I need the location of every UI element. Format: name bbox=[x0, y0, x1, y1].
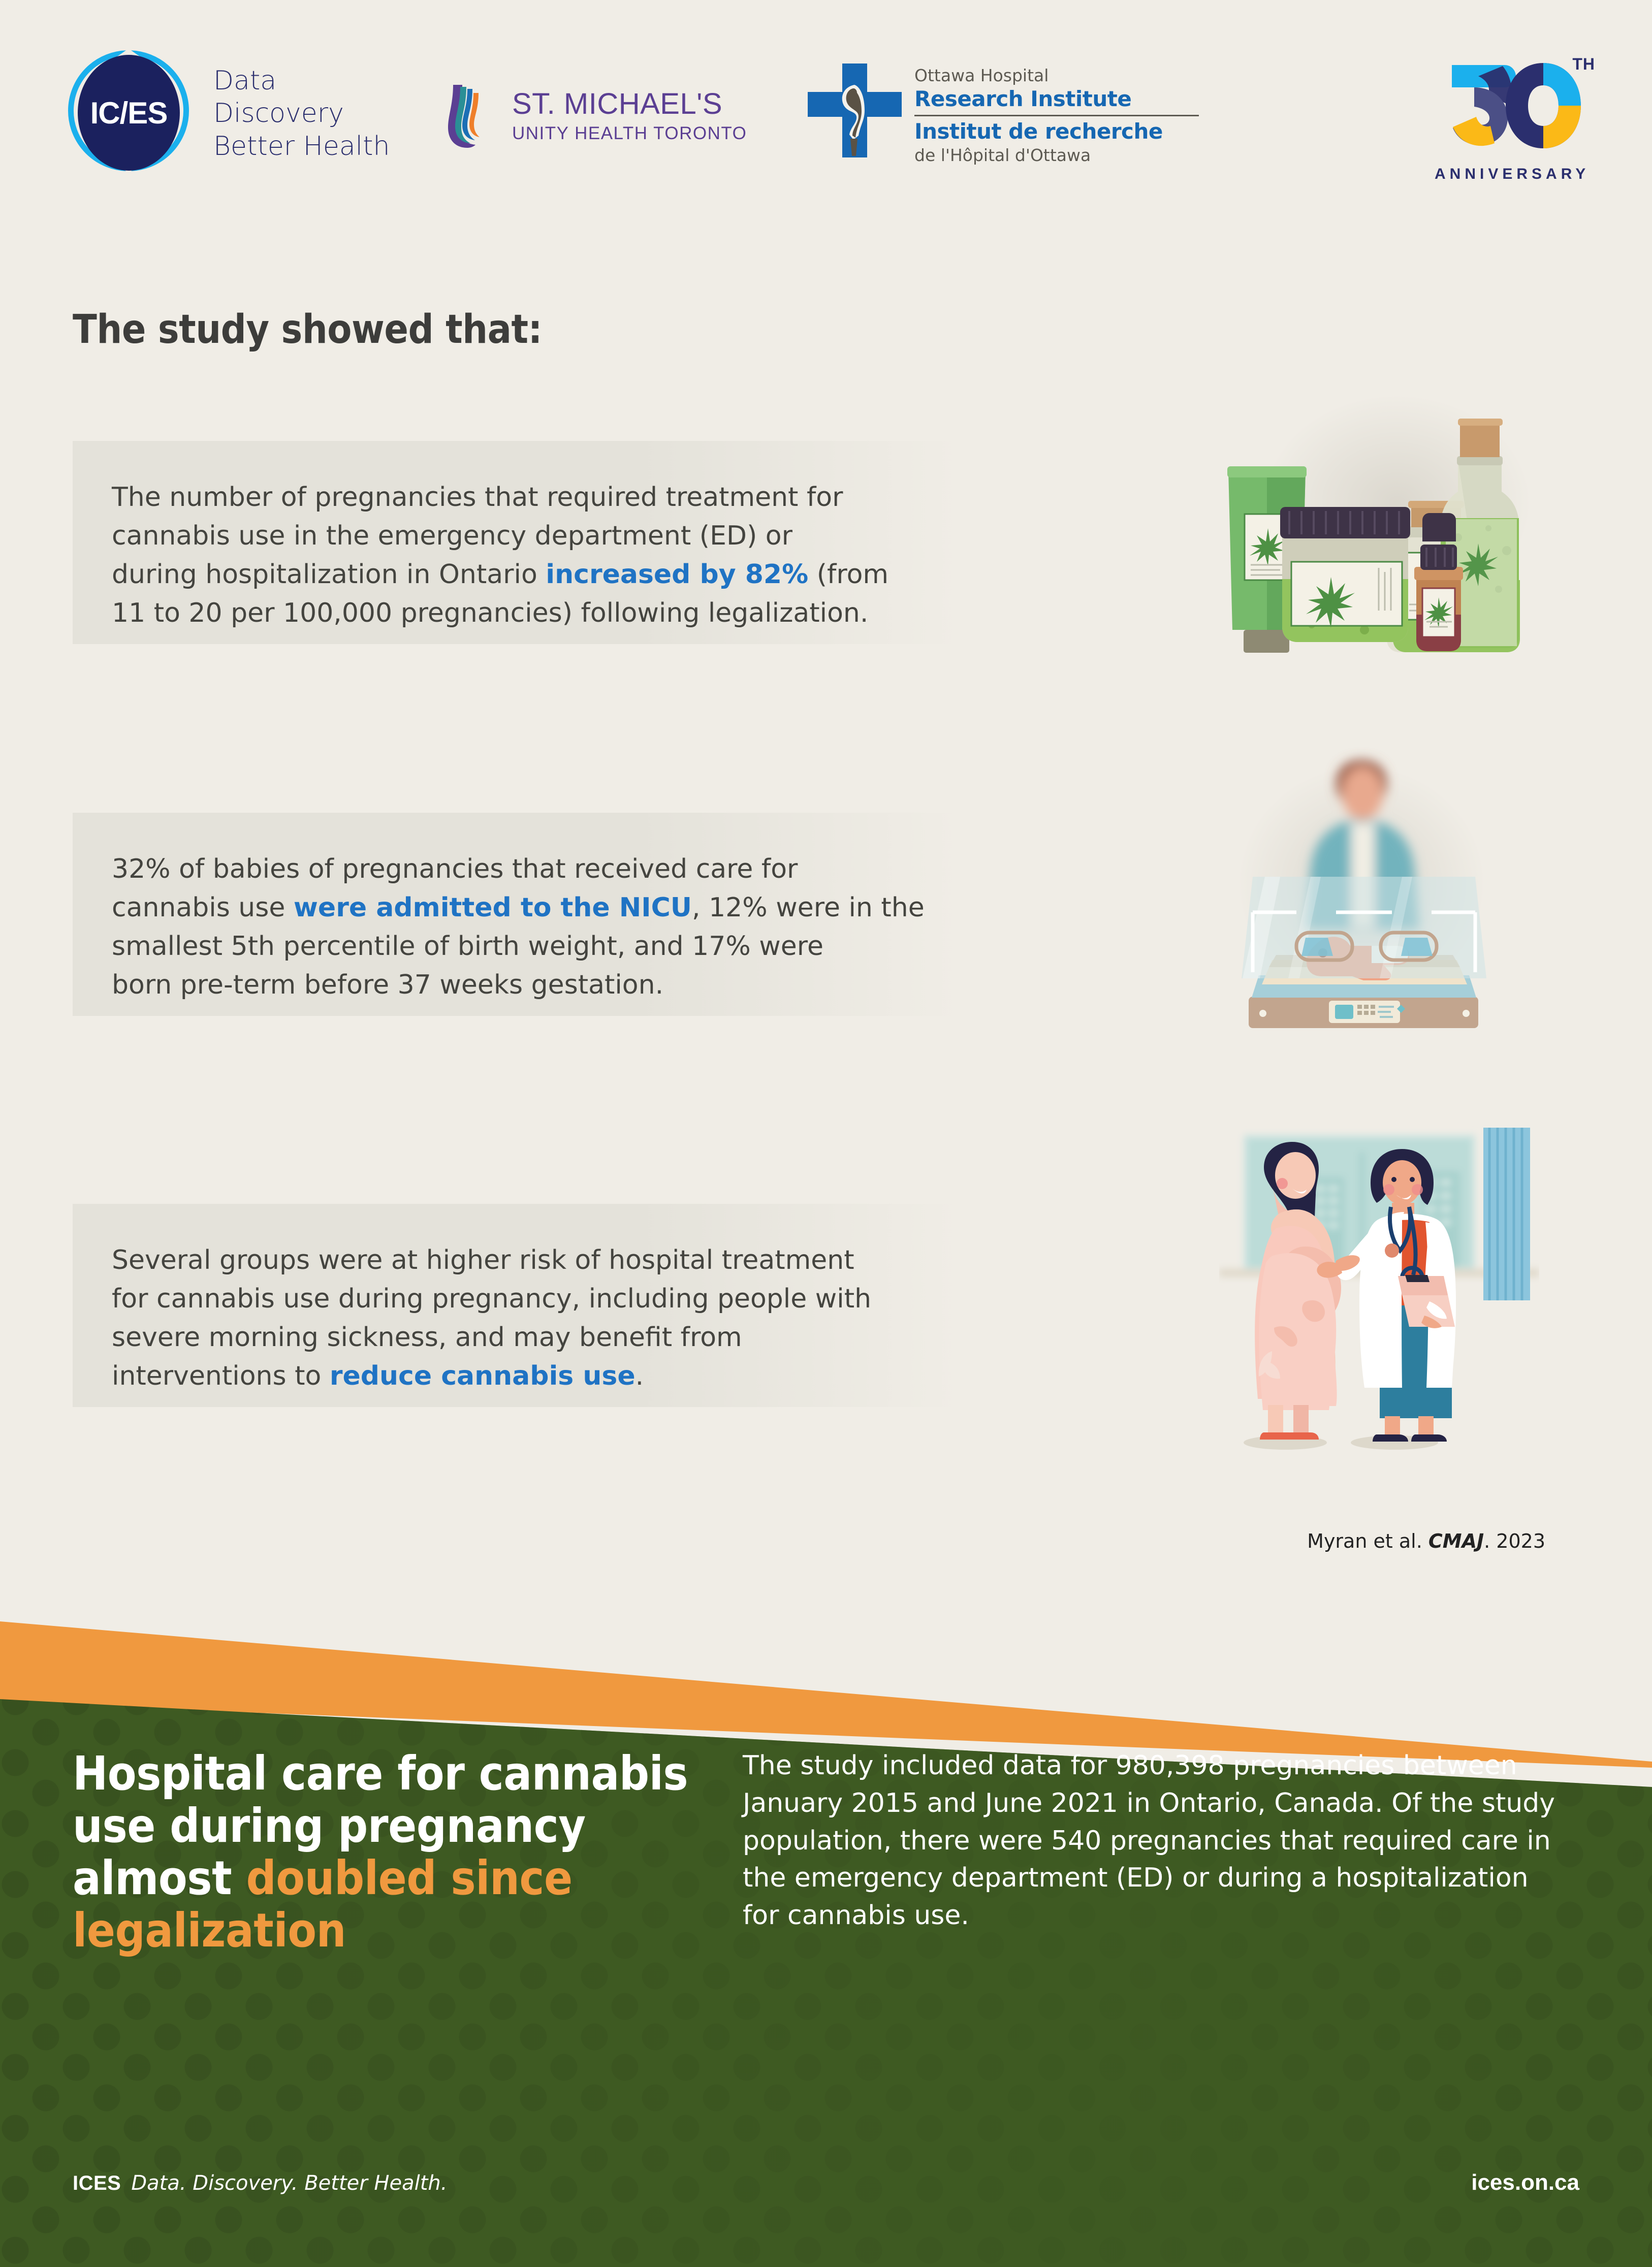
nicu-incubator-illustration bbox=[1219, 737, 1509, 1062]
citation: Myran et al. CMAJ. 2023 bbox=[1307, 1530, 1545, 1552]
ohri-line-1: Ottawa Hospital bbox=[914, 66, 1199, 85]
ices-oval-icon: IC/ES bbox=[78, 55, 180, 171]
footer-brand: ICES Data. Discovery. Better Health. bbox=[73, 2172, 448, 2195]
citation-year: . 2023 bbox=[1484, 1530, 1545, 1552]
cannabis-products-illustration bbox=[1204, 376, 1534, 691]
flame-drop-icon bbox=[447, 84, 493, 150]
footer-headline: Hospital care for cannabis use during pr… bbox=[73, 1747, 697, 1957]
ices-tagline-line-3: Better Health bbox=[213, 130, 390, 163]
header-logo-row: IC/ES Data Discovery Better Health ST. M… bbox=[0, 0, 1652, 213]
footer-brand-name: ICES bbox=[73, 2172, 121, 2195]
page-title: The study showed that: bbox=[73, 307, 542, 353]
finding-block-3-text: Several groups were at higher risk of ho… bbox=[112, 1241, 1018, 1396]
ices-logo: IC/ES Data Discovery Better Health bbox=[66, 48, 452, 175]
ohri-line-4: de l'Hôpital d'Ottawa bbox=[914, 145, 1199, 165]
ohri-divider bbox=[914, 115, 1199, 116]
ices-tagline-line-1: Data bbox=[213, 65, 390, 97]
anniversary-30-icon bbox=[1427, 56, 1595, 157]
anniversary-word: ANNIVERSARY bbox=[1435, 166, 1590, 183]
ices-mark-label: IC/ES bbox=[78, 55, 180, 171]
finding-block-2-text: 32% of babies of pregnancies that receiv… bbox=[112, 850, 1018, 1005]
ices-tagline: Data Discovery Better Health bbox=[213, 65, 390, 163]
footer-brand-tagline: Data. Discovery. Better Health. bbox=[131, 2172, 447, 2195]
citation-journal: CMAJ bbox=[1428, 1530, 1484, 1552]
st-michaels-name: ST. MICHAEL'S bbox=[512, 87, 722, 121]
ohri-line-2: Research Institute bbox=[914, 86, 1199, 111]
footer-body-text: The study included data for 980,398 preg… bbox=[743, 1747, 1555, 1935]
ices-tagline-line-2: Discovery bbox=[213, 97, 390, 130]
citation-authors: Myran et al. bbox=[1307, 1530, 1428, 1552]
st-michaels-logo: ST. MICHAEL'S UNITY HEALTH TORONTO bbox=[447, 84, 762, 155]
ices-logo-mark: IC/ES bbox=[66, 48, 193, 175]
anniversary-logo: TH ANNIVERSARY bbox=[1427, 51, 1595, 183]
st-michaels-subtitle: UNITY HEALTH TORONTO bbox=[512, 123, 747, 144]
finding-block-3: Several groups were at higher risk of ho… bbox=[73, 1204, 1038, 1407]
ohri-logo: Ottawa Hospital Research Institute Insti… bbox=[808, 63, 1214, 165]
anniversary-ordinal: TH bbox=[1572, 55, 1595, 74]
finding-block-2: 32% of babies of pregnancies that receiv… bbox=[73, 813, 1038, 1016]
pregnant-patient-doctor-illustration bbox=[1219, 1123, 1539, 1458]
ohri-wordmark: Ottawa Hospital Research Institute Insti… bbox=[914, 66, 1199, 165]
medical-cross-icon bbox=[808, 63, 902, 157]
footer-url[interactable]: ices.on.ca bbox=[1471, 2170, 1579, 2195]
ohri-line-3: Institut de recherche bbox=[914, 119, 1199, 144]
finding-block-1: The number of pregnancies that required … bbox=[73, 441, 1038, 644]
finding-block-1-text: The number of pregnancies that required … bbox=[112, 478, 1018, 633]
